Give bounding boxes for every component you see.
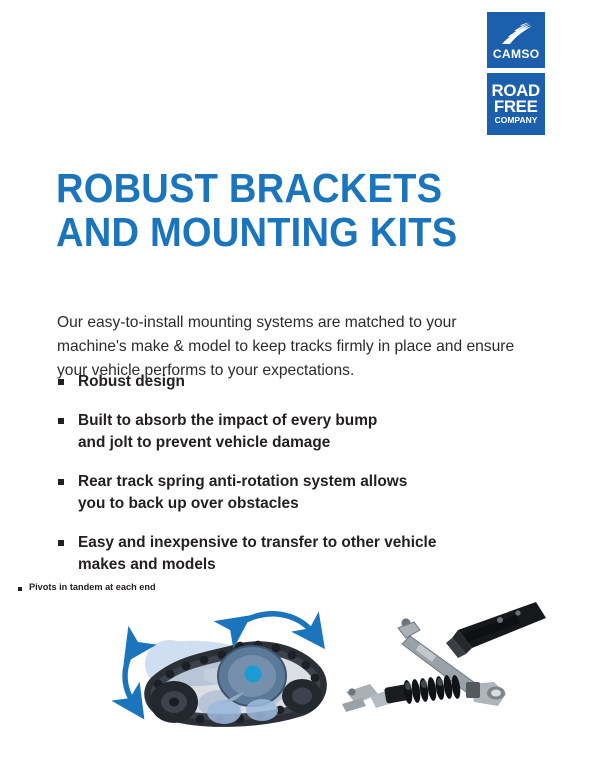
- page-title-line-2: AND MOUNTING KITS: [56, 210, 447, 254]
- track-system-illustration: [112, 600, 337, 736]
- roadfree-line-1: ROAD: [492, 83, 540, 99]
- illustration-row: [0, 596, 600, 746]
- sprocket: [218, 646, 286, 706]
- list-item: Robust design: [57, 371, 512, 393]
- camso-logo: CAMSO: [487, 12, 545, 68]
- bullet-square-icon: [58, 418, 64, 424]
- black-mounting-bracket: [446, 602, 546, 658]
- list-item-line: you to back up over obstacles: [78, 493, 512, 515]
- mounting-hardware-photo: [340, 596, 550, 726]
- page-title: ROBUST BRACKETS AND MOUNTING KITS: [56, 166, 447, 254]
- list-item-line: and jolt to prevent vehicle damage: [78, 432, 512, 454]
- list-item: Rear track spring anti-rotation system a…: [57, 471, 512, 515]
- roadfree-line-3: COMPANY: [492, 116, 539, 124]
- road-free-company-badge: ROAD FREE COMPANY: [487, 73, 545, 135]
- bullet-square-icon: [58, 479, 64, 485]
- feature-list: Robust design Built to absorb the impact…: [57, 371, 512, 576]
- right-pivot-arrow: [236, 614, 314, 634]
- road-free-company-text: ROAD FREE COMPANY: [492, 83, 539, 125]
- list-item-text: Rear track spring anti-rotation system a…: [78, 471, 512, 515]
- list-item-line: Built to absorb the impact of every bump: [78, 410, 512, 432]
- list-item: Built to absorb the impact of every bump…: [57, 410, 512, 454]
- brand-logo-stack: CAMSO ROAD FREE COMPANY: [487, 12, 545, 135]
- list-item-line: Robust design: [78, 371, 512, 393]
- list-item-text: Easy and inexpensive to transfer to othe…: [78, 532, 512, 576]
- footnote-text: Pivots in tandem at each end: [29, 582, 156, 592]
- bullet-square-icon: [58, 540, 64, 546]
- list-item-text: Built to absorb the impact of every bump…: [78, 410, 512, 454]
- list-item-text: Robust design: [78, 371, 512, 393]
- bullet-square-icon: [58, 379, 64, 385]
- roadfree-line-2: FREE: [492, 99, 540, 115]
- list-item: Easy and inexpensive to transfer to othe…: [57, 532, 512, 576]
- list-item-line: Easy and inexpensive to transfer to othe…: [78, 532, 512, 554]
- camso-track-swoosh-icon: [497, 22, 535, 48]
- footnote-bullet-icon: [18, 587, 22, 591]
- camso-wordmark: CAMSO: [493, 50, 540, 62]
- left-pivot-arrow: [125, 648, 134, 704]
- list-item-line: Rear track spring anti-rotation system a…: [78, 471, 512, 493]
- list-item-line: makes and models: [78, 554, 512, 576]
- page-title-line-1: ROBUST BRACKETS: [56, 166, 447, 210]
- coil-spring-assembly: [342, 675, 462, 712]
- footnote: Pivots in tandem at each end: [18, 582, 156, 592]
